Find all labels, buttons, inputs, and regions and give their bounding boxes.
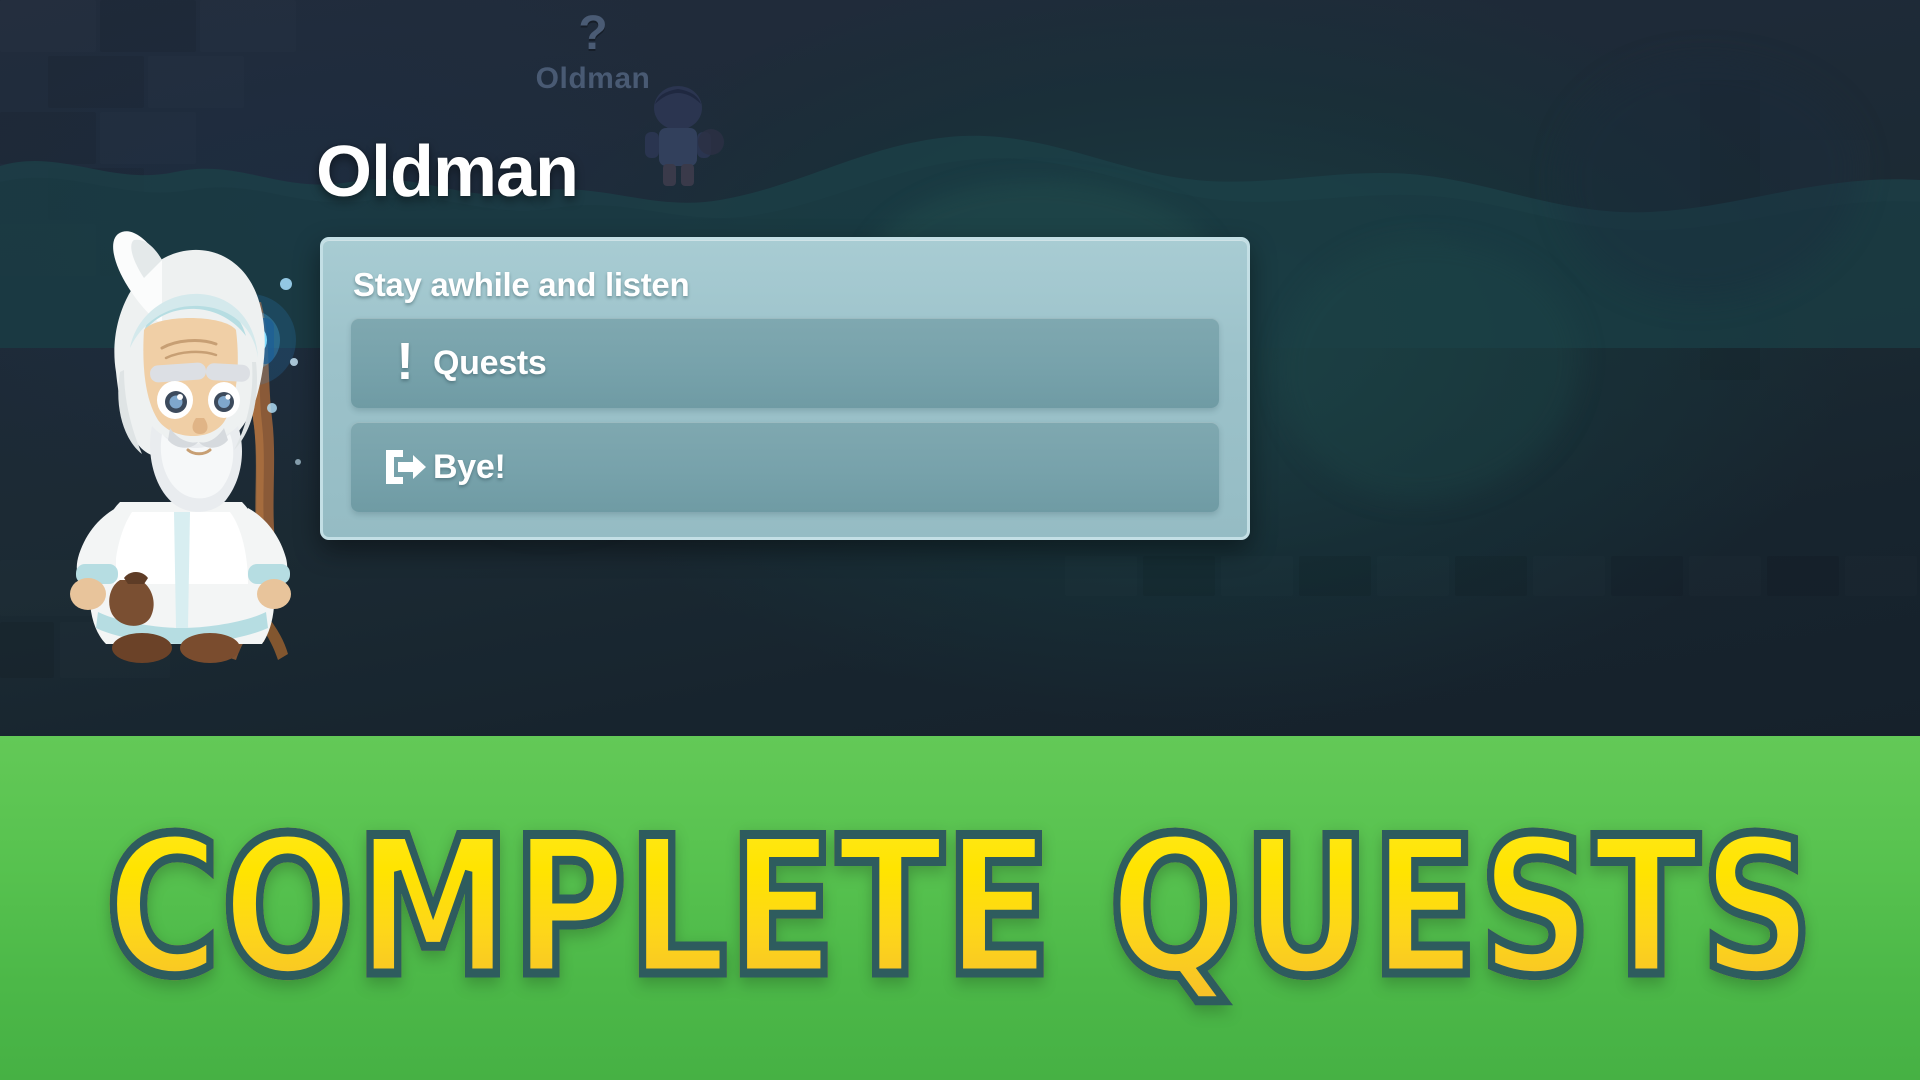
dialog-option-bye[interactable]: Bye! xyxy=(351,422,1219,512)
game-screenshot: ? Oldman xyxy=(0,0,1920,1080)
background-enemy-figure xyxy=(625,82,731,192)
dialog-option-quests[interactable]: ! Quests xyxy=(351,318,1219,408)
dialog-prompt-text: Stay awhile and listen xyxy=(353,266,1219,304)
game-scene: ? Oldman xyxy=(0,0,1920,736)
caption-text: COMPLETE QUESTS xyxy=(105,813,1814,1003)
quest-available-marker-icon: ? xyxy=(463,10,723,58)
npc-portrait-oldman xyxy=(58,212,310,664)
dialog-option-label: Quests xyxy=(433,344,546,383)
dialog-panel: Stay awhile and listen ! Quests Bye! xyxy=(320,237,1250,540)
dialog-option-label: Bye! xyxy=(433,448,506,487)
exclamation-icon: ! xyxy=(377,342,433,384)
bottom-caption-banner: COMPLETE QUESTS xyxy=(0,736,1920,1080)
exit-door-icon xyxy=(377,447,433,487)
dialog-speaker-name: Oldman xyxy=(316,136,578,208)
